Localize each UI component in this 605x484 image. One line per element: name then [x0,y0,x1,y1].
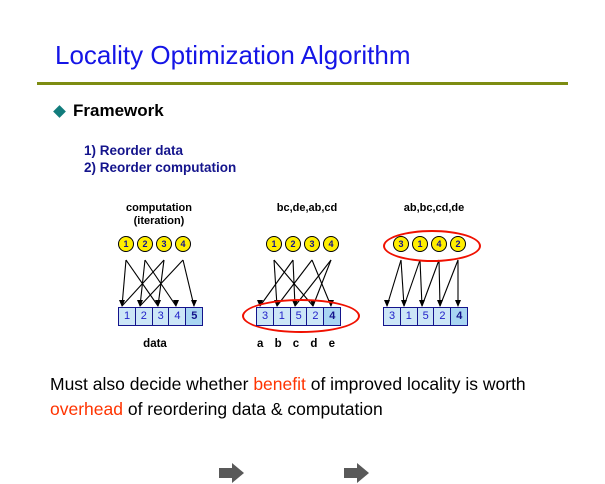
summary-text: Must also decide whether benefit of impr… [50,372,580,422]
data-cell: 4 [168,307,186,326]
node-circle: 4 [175,236,191,252]
diagram-area: computation (iteration) [0,190,605,365]
node-circle: 1 [412,236,428,252]
summary-highlight-benefit: benefit [253,374,306,394]
diagram-data-reordered-header: bc,de,ab,cd [248,202,366,215]
data-cell: 4 [450,307,468,326]
diagram-original-header: computation (iteration) [100,202,218,228]
data-cell: 1 [273,307,291,326]
data-cell: 3 [152,307,170,326]
summary-part-1: Must also decide whether [50,374,253,394]
node-circle: 3 [156,236,172,252]
diagram-data-reordered: bc,de,ab,cd [248,190,366,365]
bullet-framework-label: Framework [73,101,164,121]
diagram-original-nodes: 1 2 3 4 [100,236,218,258]
data-cell: 3 [256,307,274,326]
page-title: Locality Optimization Algorithm [55,40,410,71]
slide-canvas: Locality Optimization Algorithm Framewor… [0,0,605,468]
diagram-computation-reordered-edges [375,190,493,365]
node-circle: 1 [266,236,282,252]
data-cell: 2 [135,307,153,326]
steps-list: 1) Reorder data 2) Reorder computation [84,142,236,176]
data-cell: 1 [118,307,136,326]
summary-part-2: of improved locality is worth [306,374,526,394]
summary-part-3: of reordering data & computation [123,399,383,419]
diagram-original-boxes: 1 2 3 4 5 [118,307,202,326]
node-circle: 1 [118,236,134,252]
diagram-computation-reordered-nodes: 3 1 4 2 [375,236,493,258]
step-2: 2) Reorder computation [84,159,236,176]
data-cell: 4 [323,307,341,326]
data-cell: 5 [417,307,435,326]
diagram-data-reordered-nodes: 1 2 3 4 [248,236,366,258]
diagram-data-reordered-caption: a b c d e [248,338,348,350]
node-circle: 2 [285,236,301,252]
data-cell: 1 [400,307,418,326]
node-circle: 4 [323,236,339,252]
summary-highlight-overhead: overhead [50,399,123,419]
diamond-bullet-icon [53,105,66,118]
node-circle: 3 [393,236,409,252]
data-cell: 2 [433,307,451,326]
node-circle: 3 [304,236,320,252]
diagram-original-caption: data [100,338,210,350]
node-circle: 2 [450,236,466,252]
data-cell: 3 [383,307,401,326]
step-1: 1) Reorder data [84,142,236,159]
transition-arrow-1-icon [219,462,245,484]
title-divider [37,82,568,85]
diagram-computation-reordered: ab,bc,cd,de [375,190,493,365]
bullet-framework: Framework [55,101,164,121]
diagram-data-reordered-boxes: 3 1 5 2 4 [256,307,340,326]
transition-arrow-2-icon [344,462,370,484]
node-circle: 4 [431,236,447,252]
diagram-computation-reordered-boxes: 3 1 5 2 4 [383,307,467,326]
data-cell: 2 [306,307,324,326]
diagram-original: computation (iteration) [100,190,218,365]
data-cell: 5 [185,307,203,326]
diagram-computation-reordered-header: ab,bc,cd,de [375,202,493,215]
node-circle: 2 [137,236,153,252]
data-cell: 5 [290,307,308,326]
